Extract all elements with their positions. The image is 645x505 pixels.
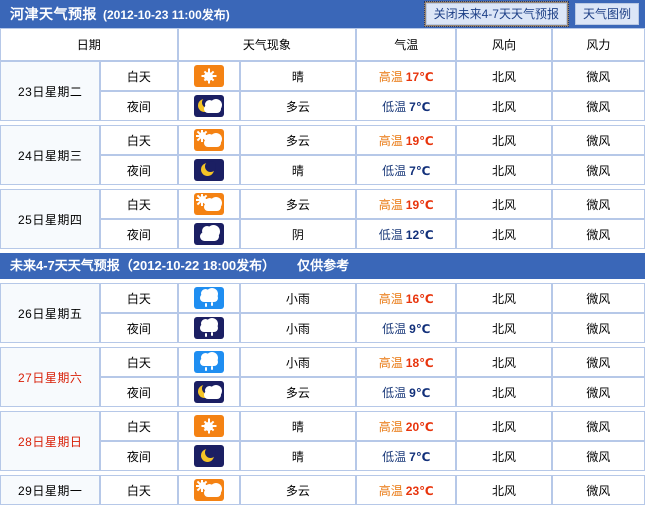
moon-icon xyxy=(194,159,224,181)
weather-description-cell: 小雨 xyxy=(240,313,356,343)
high-temp-label: 高温 xyxy=(379,198,403,212)
high-temperature-cell: 高温23℃ xyxy=(356,475,456,505)
banner-note: 仅供参考 xyxy=(297,258,349,273)
column-header-date: 日期 xyxy=(0,28,178,61)
wind-force-cell: 微风 xyxy=(552,313,645,343)
low-temperature-cell: 低温9℃ xyxy=(356,313,456,343)
weather-description-cell: 晴 xyxy=(240,411,356,441)
column-header-weather: 天气现象 xyxy=(178,28,357,61)
sun-icon xyxy=(194,65,224,87)
column-header-wind-force: 风力 xyxy=(552,28,645,61)
table-header: 日期 天气现象 气温 风向 风力 xyxy=(0,28,645,61)
moon-icon xyxy=(194,445,224,467)
weather-icon-cell xyxy=(178,219,240,249)
weather-description-cell: 小雨 xyxy=(240,347,356,377)
daypart-cell-day: 白天 xyxy=(100,475,177,505)
weather-icon-cell xyxy=(178,125,240,155)
moon-cloud-icon xyxy=(194,95,224,117)
wind-force-cell: 微风 xyxy=(552,411,645,441)
wind-direction-cell: 北风 xyxy=(456,475,551,505)
weather-description-cell: 多云 xyxy=(240,475,356,505)
low-temp-value: 7℃ xyxy=(409,450,430,464)
sun-cloud-icon xyxy=(194,479,224,501)
weather-description-cell: 晴 xyxy=(240,441,356,471)
table-row: 29日星期一白天多云高温23℃北风微风 xyxy=(0,475,645,505)
low-temperature-cell: 低温7℃ xyxy=(356,91,456,121)
wind-force-cell: 微风 xyxy=(552,155,645,185)
weather-icon-cell xyxy=(178,283,240,313)
low-temp-label: 低温 xyxy=(382,386,406,400)
wind-direction-cell: 北风 xyxy=(456,155,551,185)
weather-icon-cell xyxy=(178,155,240,185)
daypart-cell-day: 白天 xyxy=(100,347,177,377)
low-temp-label: 低温 xyxy=(382,164,406,178)
daypart-cell-night: 夜间 xyxy=(100,313,177,343)
daypart-cell-night: 夜间 xyxy=(100,219,177,249)
rain-night-icon xyxy=(194,317,224,339)
low-temperature-cell: 低温12℃ xyxy=(356,219,456,249)
low-temp-label: 低温 xyxy=(382,450,406,464)
daypart-cell-night: 夜间 xyxy=(100,155,177,185)
high-temperature-cell: 高温19℃ xyxy=(356,125,456,155)
daypart-cell-night: 夜间 xyxy=(100,91,177,121)
high-temperature-cell: 高温17℃ xyxy=(356,61,456,91)
weather-icon-cell xyxy=(178,189,240,219)
wind-direction-cell: 北风 xyxy=(456,125,551,155)
rain-day-icon xyxy=(194,351,224,373)
low-temperature-cell: 低温7℃ xyxy=(356,155,456,185)
weather-description-cell: 阴 xyxy=(240,219,356,249)
wind-direction-cell: 北风 xyxy=(456,411,551,441)
date-cell: 24日星期三 xyxy=(0,125,100,185)
wind-force-cell: 微风 xyxy=(552,91,645,121)
table-row: 24日星期三白天多云高温19℃北风微风 xyxy=(0,125,645,155)
low-temp-label: 低温 xyxy=(382,322,406,336)
date-cell: 25日星期四 xyxy=(0,189,100,249)
wind-direction-cell: 北风 xyxy=(456,61,551,91)
low-temp-label: 低温 xyxy=(379,228,403,242)
daypart-cell-night: 夜间 xyxy=(100,377,177,407)
issue-time: (2012-10-23 11:00发布) xyxy=(103,6,230,23)
wind-direction-cell: 北风 xyxy=(456,283,551,313)
date-cell: 27日星期六 xyxy=(0,347,100,407)
column-header-temperature: 气温 xyxy=(356,28,456,61)
moon-cloud-icon xyxy=(194,381,224,403)
table-row: 26日星期五白天小雨高温16℃北风微风 xyxy=(0,283,645,313)
table-row: 23日星期二白天晴高温17℃北风微风 xyxy=(0,61,645,91)
rain-day-icon xyxy=(194,287,224,309)
weather-icon-cell xyxy=(178,347,240,377)
extended-forecast-banner: 未来4-7天天气预报（2012-10-22 18:00发布）仅供参考 xyxy=(0,253,645,279)
header-row: 日期 天气现象 气温 风向 风力 xyxy=(0,28,645,61)
cloud-icon xyxy=(194,223,224,245)
wind-direction-cell: 北风 xyxy=(456,347,551,377)
high-temp-label: 高温 xyxy=(379,356,403,370)
table-body: 23日星期二白天晴高温17℃北风微风夜间多云低温7℃北风微风24日星期三白天多云… xyxy=(0,61,645,505)
wind-force-cell: 微风 xyxy=(552,125,645,155)
date-cell: 23日星期二 xyxy=(0,61,100,121)
high-temp-value: 17℃ xyxy=(406,70,434,84)
wind-force-cell: 微风 xyxy=(552,475,645,505)
daypart-cell-day: 白天 xyxy=(100,189,177,219)
weather-icon-cell xyxy=(178,475,240,505)
high-temp-label: 高温 xyxy=(379,292,403,306)
weather-icon-cell xyxy=(178,377,240,407)
high-temp-value: 23℃ xyxy=(406,484,434,498)
low-temp-value: 12℃ xyxy=(406,228,434,242)
page-title: 河津天气预报 xyxy=(10,4,97,24)
weather-description-cell: 多云 xyxy=(240,125,356,155)
wind-force-cell: 微风 xyxy=(552,189,645,219)
weather-description-cell: 多云 xyxy=(240,377,356,407)
low-temp-value: 7℃ xyxy=(409,100,430,114)
low-temp-value: 9℃ xyxy=(409,322,430,336)
weather-description-cell: 小雨 xyxy=(240,283,356,313)
table-row: 27日星期六白天小雨高温18℃北风微风 xyxy=(0,347,645,377)
wind-direction-cell: 北风 xyxy=(456,189,551,219)
table-row: 28日星期日白天晴高温20℃北风微风 xyxy=(0,411,645,441)
forecast-table: 日期 天气现象 气温 风向 风力 23日星期二白天晴高温17℃北风微风夜间多云低… xyxy=(0,28,645,505)
wind-force-cell: 微风 xyxy=(552,347,645,377)
weather-description-cell: 多云 xyxy=(240,91,356,121)
daypart-cell-day: 白天 xyxy=(100,125,177,155)
weather-icon-cell xyxy=(178,411,240,441)
high-temperature-cell: 高温20℃ xyxy=(356,411,456,441)
table-row: 25日星期四白天多云高温19℃北风微风 xyxy=(0,189,645,219)
weather-description-cell: 多云 xyxy=(240,189,356,219)
wind-force-cell: 微风 xyxy=(552,219,645,249)
weather-icon-cell xyxy=(178,441,240,471)
weather-legend-button[interactable]: 天气图例 xyxy=(575,3,639,25)
high-temp-value: 19℃ xyxy=(406,134,434,148)
high-temperature-cell: 高温19℃ xyxy=(356,189,456,219)
sun-cloud-icon xyxy=(194,193,224,215)
high-temp-value: 20℃ xyxy=(406,420,434,434)
sun-cloud-icon xyxy=(194,129,224,151)
weather-icon-cell xyxy=(178,313,240,343)
low-temperature-cell: 低温9℃ xyxy=(356,377,456,407)
extended-forecast-banner-row: 未来4-7天天气预报（2012-10-22 18:00发布）仅供参考 xyxy=(0,253,645,279)
weather-description-cell: 晴 xyxy=(240,61,356,91)
close-extended-forecast-button[interactable]: 关闭未来4-7天天气预报 xyxy=(426,3,567,25)
wind-direction-cell: 北风 xyxy=(456,441,551,471)
wind-direction-cell: 北风 xyxy=(456,91,551,121)
low-temp-label: 低温 xyxy=(382,100,406,114)
date-cell: 28日星期日 xyxy=(0,411,100,471)
wind-force-cell: 微风 xyxy=(552,377,645,407)
weather-forecast-page: 河津天气预报 (2012-10-23 11:00发布) 关闭未来4-7天天气预报… xyxy=(0,0,645,505)
weather-icon-cell xyxy=(178,91,240,121)
high-temp-value: 19℃ xyxy=(406,198,434,212)
wind-force-cell: 微风 xyxy=(552,283,645,313)
high-temp-value: 16℃ xyxy=(406,292,434,306)
daypart-cell-day: 白天 xyxy=(100,283,177,313)
low-temp-value: 7℃ xyxy=(409,164,430,178)
weather-description-cell: 晴 xyxy=(240,155,356,185)
daypart-cell-day: 白天 xyxy=(100,61,177,91)
low-temp-value: 9℃ xyxy=(409,386,430,400)
banner-text: 未来4-7天天气预报（2012-10-22 18:00发布） xyxy=(10,258,275,273)
date-cell: 29日星期一 xyxy=(0,475,100,505)
high-temperature-cell: 高温16℃ xyxy=(356,283,456,313)
high-temp-label: 高温 xyxy=(379,134,403,148)
high-temp-value: 18℃ xyxy=(406,356,434,370)
low-temperature-cell: 低温7℃ xyxy=(356,441,456,471)
title-bar: 河津天气预报 (2012-10-23 11:00发布) 关闭未来4-7天天气预报… xyxy=(0,0,645,28)
wind-direction-cell: 北风 xyxy=(456,219,551,249)
high-temperature-cell: 高温18℃ xyxy=(356,347,456,377)
date-cell: 26日星期五 xyxy=(0,283,100,343)
high-temp-label: 高温 xyxy=(379,70,403,84)
daypart-cell-night: 夜间 xyxy=(100,441,177,471)
daypart-cell-day: 白天 xyxy=(100,411,177,441)
extended-forecast-banner-cell: 未来4-7天天气预报（2012-10-22 18:00发布）仅供参考 xyxy=(0,253,645,279)
sun-icon xyxy=(194,415,224,437)
wind-direction-cell: 北风 xyxy=(456,377,551,407)
wind-force-cell: 微风 xyxy=(552,61,645,91)
column-header-wind-direction: 风向 xyxy=(456,28,551,61)
wind-direction-cell: 北风 xyxy=(456,313,551,343)
weather-icon-cell xyxy=(178,61,240,91)
high-temp-label: 高温 xyxy=(379,420,403,434)
high-temp-label: 高温 xyxy=(379,484,403,498)
wind-force-cell: 微风 xyxy=(552,441,645,471)
